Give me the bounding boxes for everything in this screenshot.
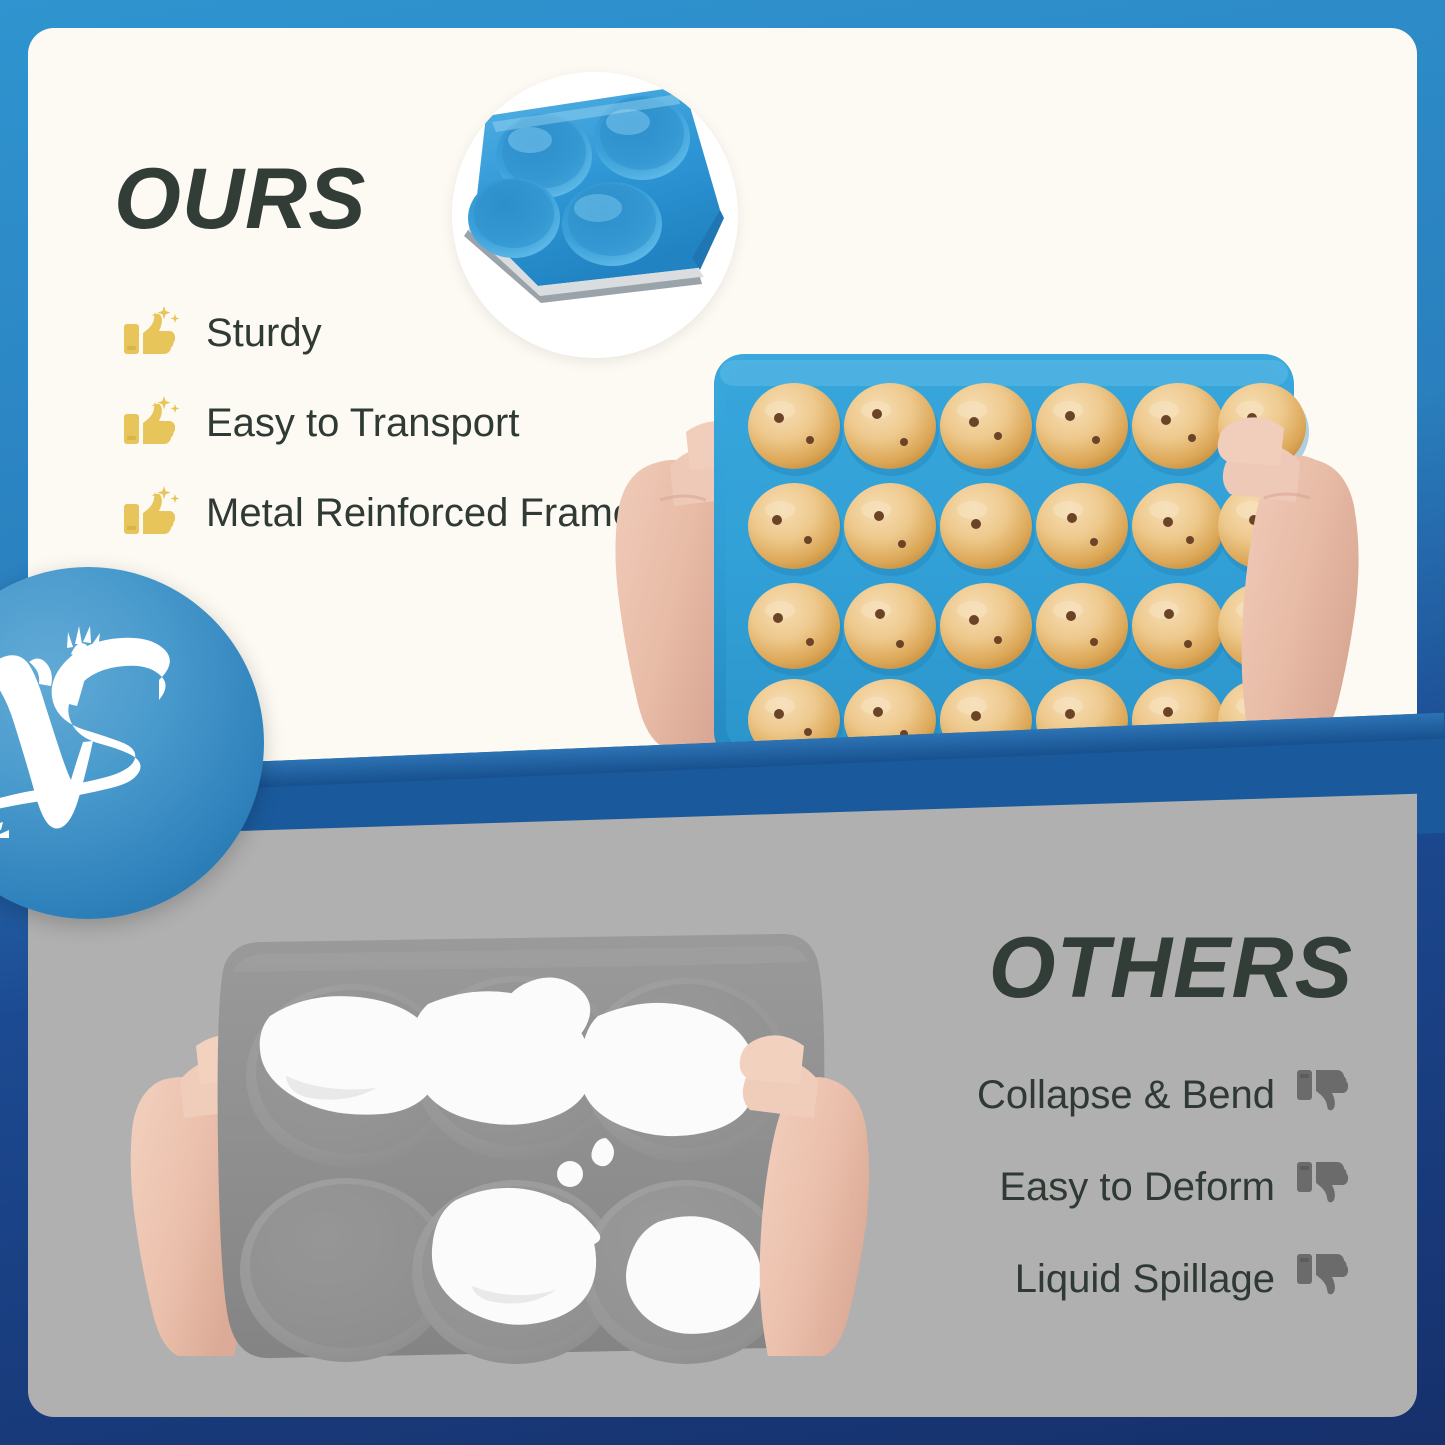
ours-feature-label: Sturdy bbox=[206, 311, 322, 356]
thumbs-down-icon bbox=[1297, 1250, 1353, 1309]
infographic-frame: OURS Sturdy bbox=[0, 0, 1445, 1445]
thumbs-up-icon bbox=[124, 304, 182, 363]
others-feature-item: Easy to Deform bbox=[733, 1160, 1353, 1214]
ours-feature-label: Metal Reinforced Frame bbox=[206, 491, 635, 536]
thumbs-down-icon bbox=[1297, 1158, 1353, 1217]
blue-muffin-tray-icon bbox=[574, 314, 1417, 838]
others-feature-label: Liquid Spillage bbox=[1015, 1257, 1275, 1302]
others-feature-label: Collapse & Bend bbox=[977, 1073, 1275, 1118]
thumbs-up-icon bbox=[124, 484, 182, 543]
others-feature-item: Collapse & Bend bbox=[733, 1068, 1353, 1122]
others-feature-list: Collapse & Bend Easy to Deform bbox=[733, 1068, 1353, 1344]
ours-feature-label: Easy to Transport bbox=[206, 401, 519, 446]
others-title: OTHERS bbox=[989, 925, 1353, 1011]
others-feature-item: Liquid Spillage bbox=[733, 1252, 1353, 1306]
thumbs-down-icon bbox=[1297, 1066, 1353, 1125]
thumbs-up-icon bbox=[124, 394, 182, 453]
others-feature-label: Easy to Deform bbox=[999, 1165, 1275, 1210]
ours-title: OURS bbox=[114, 156, 366, 242]
